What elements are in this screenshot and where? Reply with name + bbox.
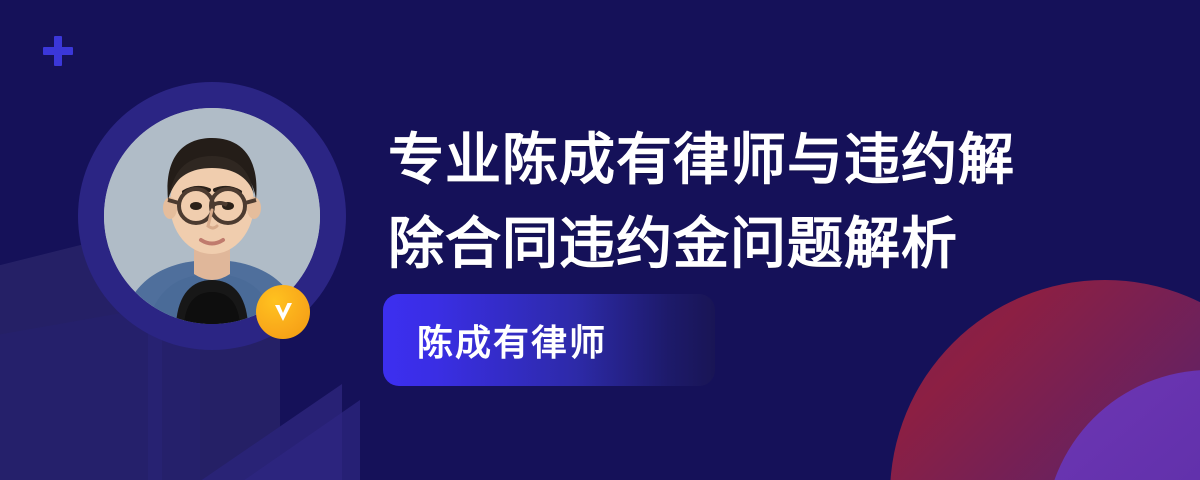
headline-block: 专业陈成有律师与违约解 除合同违约金问题解析	[388, 118, 1088, 286]
gradient-ring-outer	[890, 280, 1200, 480]
wedge-shape-secondary	[230, 400, 360, 480]
gradient-ring-inner	[1045, 370, 1200, 480]
plus-icon	[43, 36, 73, 66]
vertical-bar-shape	[148, 330, 162, 480]
lawyer-name-button[interactable]: 陈成有律师	[383, 294, 715, 386]
avatar	[78, 82, 346, 350]
wedge-shape	[152, 384, 342, 480]
verified-badge-icon	[256, 285, 310, 339]
lawyer-promo-banner: 专业陈成有律师与违约解 除合同违约金问题解析 陈成有律师	[0, 0, 1200, 480]
page-title: 专业陈成有律师与违约解 除合同违约金问题解析	[388, 118, 1088, 286]
